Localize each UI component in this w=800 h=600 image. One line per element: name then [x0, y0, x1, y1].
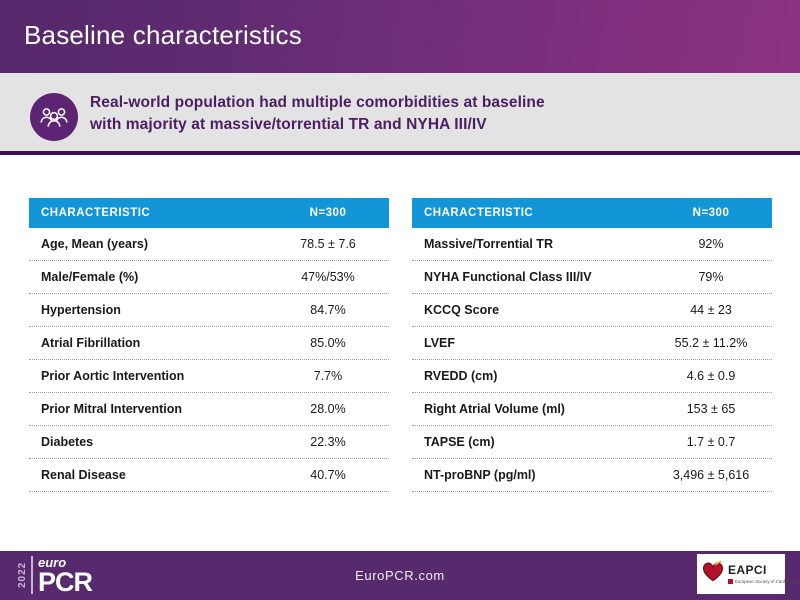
row-value: 28.0%	[267, 402, 389, 416]
row-value: 47%/53%	[267, 270, 389, 284]
row-label: Prior Aortic Intervention	[29, 369, 267, 383]
row-label: Hypertension	[29, 303, 267, 317]
table-row: NT-proBNP (pg/ml) 3,496 ± 5,616	[412, 459, 772, 492]
table-row: Renal Disease 40.7%	[29, 459, 389, 492]
table-row: Prior Aortic Intervention 7.7%	[29, 360, 389, 393]
table-header-row: CHARACTERISTIC N=300	[29, 198, 389, 228]
row-value: 3,496 ± 5,616	[650, 468, 772, 482]
table-row: Hypertension 84.7%	[29, 294, 389, 327]
table-row: RVEDD (cm) 4.6 ± 0.9	[412, 360, 772, 393]
table-baseline-demographics: CHARACTERISTIC N=300 Age, Mean (years) 7…	[29, 198, 389, 492]
row-label: Diabetes	[29, 435, 267, 449]
row-label: LVEF	[412, 336, 650, 350]
row-value: 84.7%	[267, 303, 389, 317]
column-header-characteristic: CHARACTERISTIC	[29, 207, 267, 219]
row-label: Right Atrial Volume (ml)	[412, 402, 650, 416]
row-value: 7.7%	[267, 369, 389, 383]
subtitle-line-2: with majority at massive/torrential TR a…	[90, 114, 780, 136]
table-row: Male/Female (%) 47%/53%	[29, 261, 389, 294]
row-label: Atrial Fibrillation	[29, 336, 267, 350]
eapci-subtitle-row: European Society of Cardiology	[728, 579, 797, 584]
row-value: 22.3%	[267, 435, 389, 449]
subtitle-line-1: Real-world population had multiple comor…	[90, 92, 780, 114]
table-row: NYHA Functional Class III/IV 79%	[412, 261, 772, 294]
table-row: Right Atrial Volume (ml) 153 ± 65	[412, 393, 772, 426]
table-row: Atrial Fibrillation 85.0%	[29, 327, 389, 360]
row-label: KCCQ Score	[412, 303, 650, 317]
row-value: 79%	[650, 270, 772, 284]
table-row: Age, Mean (years) 78.5 ± 7.6	[29, 228, 389, 261]
subtitle-text: Real-world population had multiple comor…	[90, 92, 780, 136]
page-title: Baseline characteristics	[24, 20, 302, 51]
table-header-row: CHARACTERISTIC N=300	[412, 198, 772, 228]
row-value: 4.6 ± 0.9	[650, 369, 772, 383]
eapci-name: EAPCI	[728, 564, 797, 577]
row-label: RVEDD (cm)	[412, 369, 650, 383]
table-baseline-clinical: CHARACTERISTIC N=300 Massive/Torrential …	[412, 198, 772, 492]
band-divider	[0, 151, 800, 155]
row-label: Prior Mitral Intervention	[29, 402, 267, 416]
eapci-text-block: EAPCI European Society of Cardiology	[728, 564, 797, 584]
esc-square-icon	[728, 579, 733, 584]
row-label: Massive/Torrential TR	[412, 237, 650, 251]
eapci-subtitle: European Society of Cardiology	[735, 579, 797, 584]
column-header-n: N=300	[650, 207, 772, 219]
table-row: Prior Mitral Intervention 28.0%	[29, 393, 389, 426]
row-value: 40.7%	[267, 468, 389, 482]
column-header-n: N=300	[267, 207, 389, 219]
row-label: NT-proBNP (pg/ml)	[412, 468, 650, 482]
footer-url[interactable]: EuroPCR.com	[0, 568, 800, 583]
table-row: LVEF 55.2 ± 11.2%	[412, 327, 772, 360]
row-value: 44 ± 23	[650, 303, 772, 317]
column-header-characteristic: CHARACTERISTIC	[412, 207, 650, 219]
row-value: 55.2 ± 11.2%	[650, 336, 772, 350]
row-label: Renal Disease	[29, 468, 267, 482]
row-value: 153 ± 65	[650, 402, 772, 416]
group-people-icon	[30, 93, 78, 141]
row-value: 85.0%	[267, 336, 389, 350]
row-value: 92%	[650, 237, 772, 251]
table-row: Massive/Torrential TR 92%	[412, 228, 772, 261]
heart-icon	[702, 561, 724, 587]
eapci-logo: EAPCI European Society of Cardiology	[697, 554, 785, 594]
table-row: TAPSE (cm) 1.7 ± 0.7	[412, 426, 772, 459]
row-value: 1.7 ± 0.7	[650, 435, 772, 449]
row-label: Male/Female (%)	[29, 270, 267, 284]
table-row: KCCQ Score 44 ± 23	[412, 294, 772, 327]
row-label: Age, Mean (years)	[29, 237, 267, 251]
row-label: TAPSE (cm)	[412, 435, 650, 449]
table-row: Diabetes 22.3%	[29, 426, 389, 459]
row-label: NYHA Functional Class III/IV	[412, 270, 650, 284]
row-value: 78.5 ± 7.6	[267, 237, 389, 251]
